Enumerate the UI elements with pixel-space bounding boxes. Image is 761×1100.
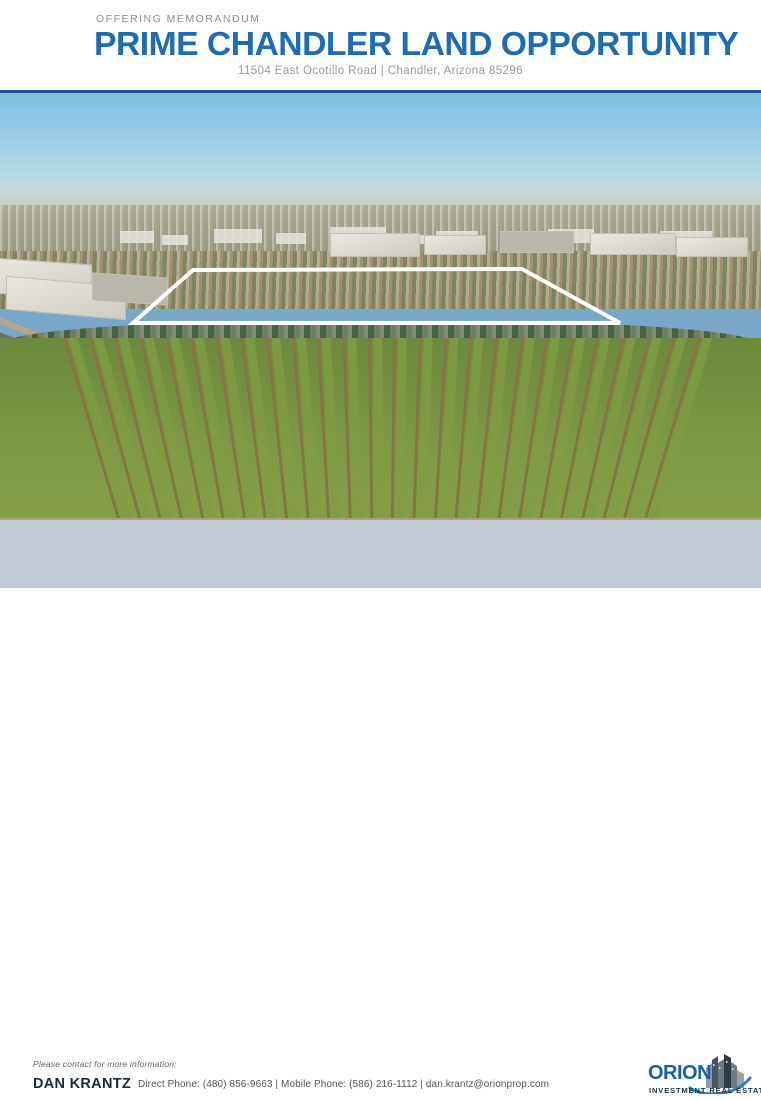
parcel-boundary-outline <box>0 93 761 523</box>
logo-tagline: INVESTMENT REAL ESTATE <box>649 1086 761 1095</box>
aerial-property-photo: OCOTILLO ROAD <box>0 90 761 523</box>
property-address: 11504 East Ocotillo Road | Chandler, Ari… <box>0 65 761 77</box>
orion-logo[interactable]: ORION INVESTMENT REAL ESTATE <box>648 1056 752 1100</box>
offering-memorandum-page: OFFERING MEMORANDUM PRIME CHANDLER LAND … <box>0 0 761 588</box>
page-title: PRIME CHANDLER LAND OPPORTUNITY <box>94 27 738 61</box>
page-header: OFFERING MEMORANDUM PRIME CHANDLER LAND … <box>0 0 761 90</box>
contact-prompt: Please contact for more information: <box>33 1059 177 1069</box>
agent-contact-line[interactable]: Direct Phone: (480) 856-9663 | Mobile Ph… <box>138 1079 549 1090</box>
page-footer: Please contact for more information: DAN… <box>0 520 761 588</box>
logo-brand-text: ORION <box>648 1062 711 1085</box>
kicker-label: OFFERING MEMORANDUM <box>96 13 260 25</box>
agent-name: DAN KRANTZ <box>33 1076 131 1092</box>
